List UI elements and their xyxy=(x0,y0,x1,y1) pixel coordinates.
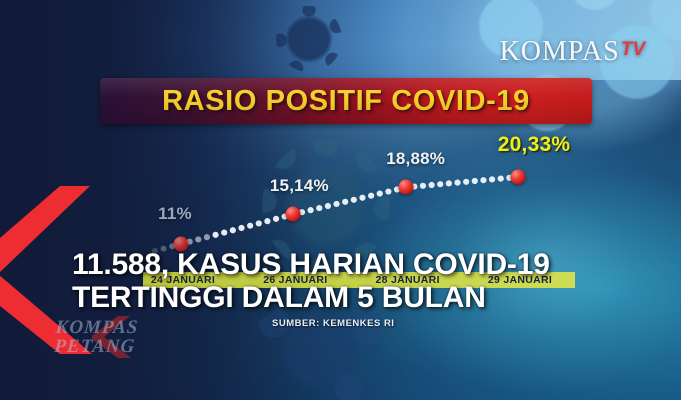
headline-line-2: TERTINGGI DALAM 5 BULAN xyxy=(72,281,657,314)
logo-kompas-text: KOMPAS xyxy=(500,36,620,68)
lower-third: 11.588, KASUS HARIAN COVID-19 TERTINGGI … xyxy=(0,248,681,329)
headline: 11.588, KASUS HARIAN COVID-19 TERTINGGI … xyxy=(72,248,657,314)
title-banner: RASIO POSITIF COVID-19 xyxy=(100,78,592,124)
page-title: RASIO POSITIF COVID-19 xyxy=(100,78,592,124)
watermark-line-2: PETANG xyxy=(54,337,138,356)
source-credit: SUMBER: KEMENKES RI xyxy=(272,318,657,329)
broadcast-graphic: KOMPAS PETANG KOMPAS TV RASIO POSITIF CO… xyxy=(0,0,681,400)
kompastv-logo: KOMPAS TV xyxy=(500,36,645,68)
logo-tv-text: TV xyxy=(621,39,645,61)
headline-line-1: 11.588, KASUS HARIAN COVID-19 xyxy=(72,248,550,281)
